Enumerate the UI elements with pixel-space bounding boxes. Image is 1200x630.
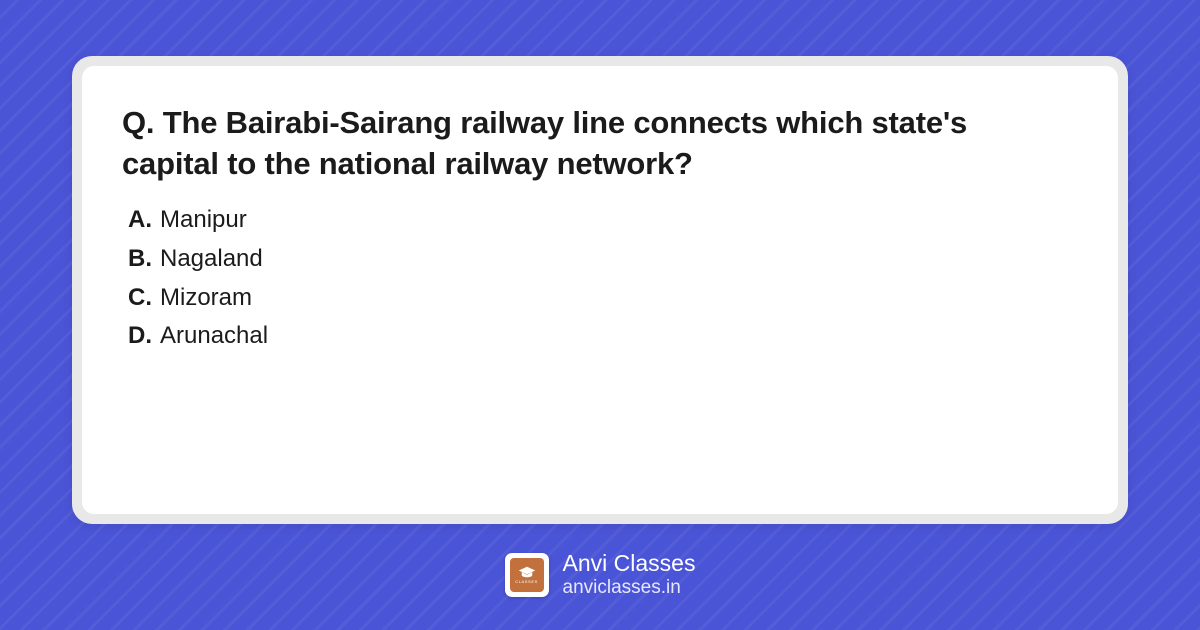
option-label: Manipur	[160, 206, 247, 234]
brand-text-block: Anvi Classes anviclasses.in	[563, 550, 696, 600]
question-card-frame: Q. The Bairabi-Sairang railway line conn…	[72, 56, 1128, 524]
option-letter: C.	[128, 284, 152, 312]
graduation-cap-icon	[518, 566, 536, 578]
brand-name: Anvi Classes	[563, 550, 696, 577]
option-label: Arunachal	[160, 322, 268, 350]
brand-logo-tile: CLASSES	[510, 558, 544, 592]
option-label: Mizoram	[160, 284, 252, 312]
brand-logo-caption: CLASSES	[515, 580, 538, 584]
option-letter: A.	[128, 206, 152, 234]
option-letter: B.	[128, 245, 152, 273]
option-a[interactable]: A. Manipur	[128, 206, 1078, 234]
option-label: Nagaland	[160, 245, 263, 273]
question-card: Q. The Bairabi-Sairang railway line conn…	[82, 66, 1118, 514]
question-text: Q. The Bairabi-Sairang railway line conn…	[122, 102, 1022, 184]
brand-logo: CLASSES	[505, 553, 549, 597]
poster-stage: Q. The Bairabi-Sairang railway line conn…	[0, 0, 1200, 630]
options-list: A. Manipur B. Nagaland C. Mizoram D. Aru…	[122, 206, 1078, 349]
brand-url[interactable]: anviclasses.in	[563, 577, 696, 599]
option-b[interactable]: B. Nagaland	[128, 245, 1078, 273]
option-c[interactable]: C. Mizoram	[128, 284, 1078, 312]
brand-footer: CLASSES Anvi Classes anviclasses.in	[505, 550, 696, 600]
option-d[interactable]: D. Arunachal	[128, 322, 1078, 350]
option-letter: D.	[128, 322, 152, 350]
